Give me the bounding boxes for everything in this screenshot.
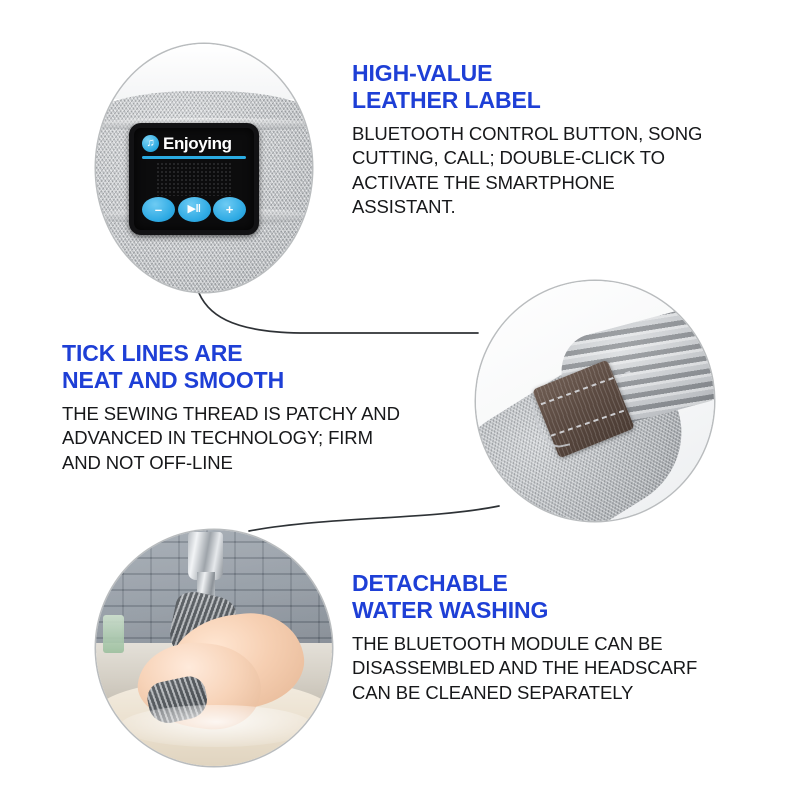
- module-brand-row: ♫ Enjoying: [142, 135, 246, 152]
- label-photo: ♫ Enjoying – ▶‖ +: [96, 44, 312, 292]
- connector-stitch-to-wash: [249, 506, 499, 531]
- product-feature-infographic: ♫ Enjoying – ▶‖ +: [0, 0, 800, 800]
- callout-heading: DETACHABLE WATER WASHING: [352, 570, 714, 624]
- callout-body: THE SEWING THREAD IS PATCHY AND ADVANCED…: [62, 402, 412, 475]
- callout-water-washing: DETACHABLE WATER WASHING THE BLUETOOTH M…: [352, 570, 714, 705]
- stitch-photo: [476, 281, 714, 521]
- connector-label-to-stitch: [197, 288, 478, 333]
- callout-heading: HIGH-VALUE LEATHER LABEL: [352, 60, 708, 114]
- module-button-row: – ▶‖ +: [142, 197, 246, 222]
- callout-tick-lines: TICK LINES ARE NEAT AND SMOOTH THE SEWIN…: [62, 340, 412, 475]
- brand-label: Enjoying: [163, 135, 232, 152]
- callout-leather-label: HIGH-VALUE LEATHER LABEL BLUETOOTH CONTR…: [352, 60, 708, 219]
- wash-photo: [96, 530, 332, 766]
- soap-dispenser: [103, 615, 124, 653]
- module-divider: [142, 156, 246, 159]
- music-note-icon: ♫: [142, 135, 159, 152]
- soap-suds: [120, 705, 314, 747]
- callout-body: BLUETOOTH CONTROL BUTTON, SONG CUTTING, …: [352, 122, 708, 220]
- volume-up-button[interactable]: +: [213, 197, 246, 222]
- volume-down-button[interactable]: –: [142, 197, 175, 222]
- speaker-grille-icon: [156, 162, 232, 197]
- play-pause-button[interactable]: ▶‖: [178, 197, 211, 222]
- bluetooth-control-module[interactable]: ♫ Enjoying – ▶‖ +: [129, 123, 259, 235]
- callout-body: THE BLUETOOTH MODULE CAN BE DISASSEMBLED…: [352, 632, 714, 705]
- callout-heading: TICK LINES ARE NEAT AND SMOOTH: [62, 340, 412, 394]
